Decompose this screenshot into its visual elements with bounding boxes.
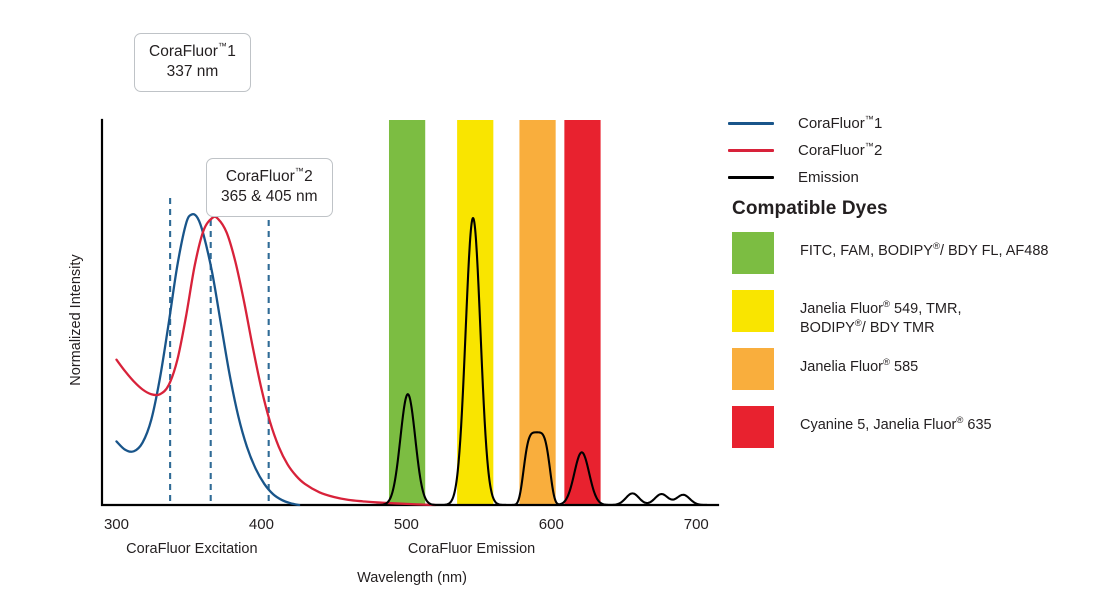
x-tick-500: 500: [394, 516, 419, 533]
dye-item-0: FITC, FAM, BODIPY®/ BDY FL, AF488: [728, 232, 1110, 290]
dye-item-label: FITC, FAM, BODIPY®/ BDY FL, AF488: [800, 232, 1048, 261]
legend-item-0: CoraFluor™1: [728, 110, 1110, 137]
y-axis-label: Normalized Intensity: [68, 254, 84, 386]
dye-item-2: Janelia Fluor® 585: [728, 348, 1110, 406]
dye-item-1: Janelia Fluor® 549, TMR,BODIPY®/ BDY TMR: [728, 290, 1110, 348]
corafluor1-callout-line1: CoraFluor™1: [149, 42, 236, 62]
emission-bands: [389, 120, 601, 505]
x-tick-700: 700: [684, 516, 709, 533]
compatible-dyes-heading: Compatible Dyes: [732, 198, 888, 220]
region-caption-0: CoraFluor Excitation: [126, 541, 257, 557]
x-tick-300: 300: [104, 516, 129, 533]
legend-item-label: CoraFluor™1: [798, 115, 882, 132]
dye-item-3: Cyanine 5, Janelia Fluor® 635: [728, 406, 1110, 464]
legend-line-swatch: [728, 149, 774, 152]
yellow-band: [457, 120, 493, 505]
x-axis-tick-labels: 300400500600700: [104, 516, 709, 533]
dye-item-label: Janelia Fluor® 549, TMR,BODIPY®/ BDY TMR: [800, 290, 961, 339]
x-tick-600: 600: [539, 516, 564, 533]
orange-band: [519, 120, 555, 505]
curve-series-0: [116, 214, 299, 505]
corafluor2-callout-line1: CoraFluor™2: [221, 167, 318, 187]
legend-line-swatch: [728, 176, 774, 179]
curve-emission: [319, 218, 713, 505]
corafluor1-callout-line2: 337 nm: [149, 62, 236, 82]
dye-color-swatch: [732, 406, 774, 448]
spectra-chart: 300400500600700 CoraFluor ExcitationCora…: [0, 0, 730, 612]
dye-item-label: Janelia Fluor® 585: [800, 348, 918, 377]
compatible-dyes-list: FITC, FAM, BODIPY®/ BDY FL, AF488Janelia…: [728, 232, 1110, 464]
dye-color-swatch: [732, 290, 774, 332]
legend-item-2: Emission: [728, 164, 1110, 191]
dye-color-swatch: [732, 348, 774, 390]
legend-panel: CoraFluor™1CoraFluor™2Emission Compatibl…: [728, 0, 1110, 612]
curve-series-1: [116, 217, 435, 505]
dye-color-swatch: [732, 232, 774, 274]
series-legend: CoraFluor™1CoraFluor™2Emission: [728, 110, 1110, 191]
corafluor2-callout-line2: 365 & 405 nm: [221, 187, 318, 207]
green-band: [389, 120, 425, 505]
corafluor2-callout: CoraFluor™2 365 & 405 nm: [206, 158, 333, 217]
corafluor1-callout: CoraFluor™1 337 nm: [134, 33, 251, 92]
x-axis-region-captions: CoraFluor ExcitationCoraFluor Emission: [126, 541, 535, 557]
legend-line-swatch: [728, 122, 774, 125]
region-caption-1: CoraFluor Emission: [408, 541, 535, 557]
legend-item-label: Emission: [798, 169, 859, 186]
dye-item-label: Cyanine 5, Janelia Fluor® 635: [800, 406, 992, 435]
legend-item-1: CoraFluor™2: [728, 137, 1110, 164]
x-tick-400: 400: [249, 516, 274, 533]
red-band: [564, 120, 600, 505]
spectra-figure: 300400500600700 CoraFluor ExcitationCora…: [0, 0, 1110, 612]
x-axis-label: Wavelength (nm): [357, 570, 467, 586]
legend-item-label: CoraFluor™2: [798, 142, 882, 159]
